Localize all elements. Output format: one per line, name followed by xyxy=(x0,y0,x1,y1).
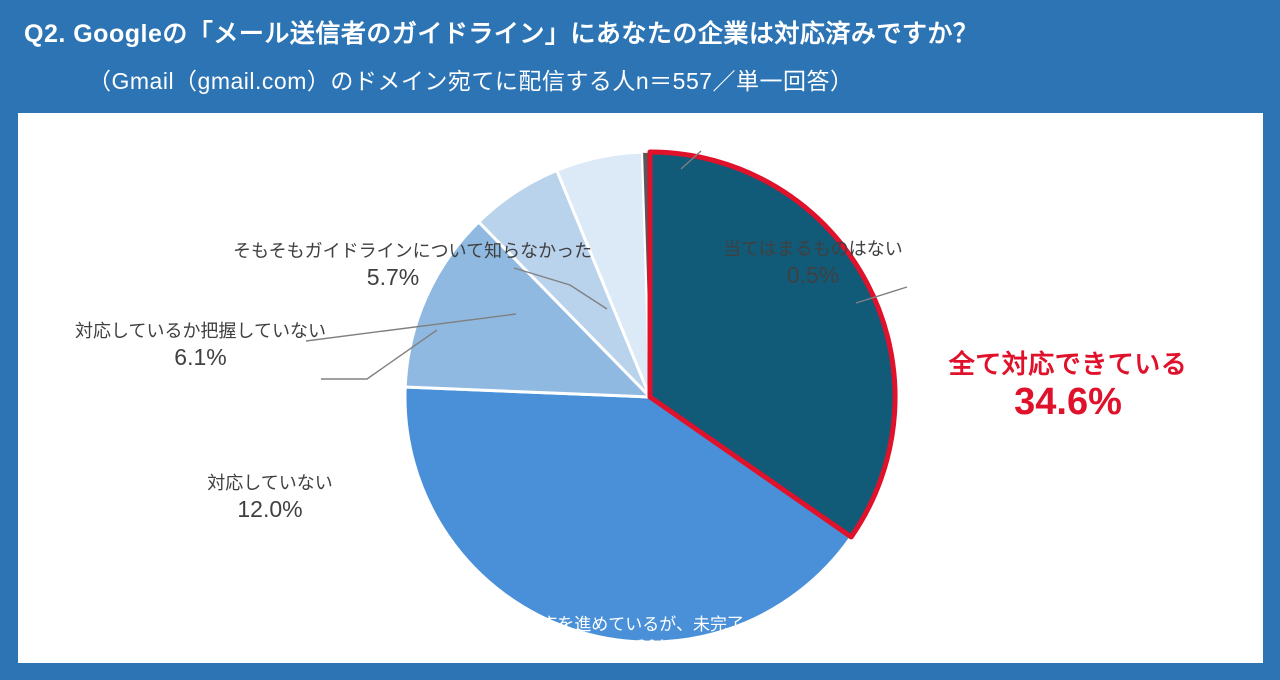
page-title: Q2. Googleの「メール送信者のガイドライン」にあなたの企業は対応済みです… xyxy=(24,14,978,50)
label-not-done-category: 対応していない xyxy=(190,473,350,495)
label-none-apply-category: 当てはまるものはない xyxy=(718,239,908,261)
label-unknown: そもそもガイドラインについて知らなかった 5.7% xyxy=(233,241,553,291)
label-all-done-percent: 34.6% xyxy=(923,380,1213,425)
page-subtitle: （Gmail（gmail.com）のドメイン宛てに配信する人n＝557／単一回答… xyxy=(88,62,854,96)
label-unknown-percent: 5.7% xyxy=(233,263,553,291)
label-unknown-category: そもそもガイドラインについて知らなかった xyxy=(233,241,553,263)
header-banner: Q2. Googleの「メール送信者のガイドライン」にあなたの企業は対応済みです… xyxy=(0,0,1280,113)
label-in-progress-category: 対応を進めているが、未完了, xyxy=(496,615,776,635)
label-in-progress-percent: 40.9% xyxy=(496,635,776,661)
pie-slices-group xyxy=(405,152,895,642)
label-not-grasped-category: 対応しているか把握していない xyxy=(68,321,333,343)
label-not-grasped-percent: 6.1% xyxy=(68,343,333,371)
label-all-done-highlight: 全て対応できている 34.6% xyxy=(923,349,1213,425)
label-in-progress: 対応を進めているが、未完了, 40.9% xyxy=(496,615,776,662)
label-all-done-category: 全て対応できている xyxy=(923,349,1213,380)
label-not-done: 対応していない 12.0% xyxy=(190,473,350,523)
label-not-grasped: 対応しているか把握していない 6.1% xyxy=(68,321,333,371)
label-not-done-percent: 12.0% xyxy=(190,495,350,523)
label-none-apply-percent: 0.5% xyxy=(718,261,908,289)
label-none-apply: 当てはまるものはない 0.5% xyxy=(718,239,908,289)
chart-card: そもそもガイドラインについて知らなかった 5.7% 対応しているか把握していない… xyxy=(18,113,1263,663)
